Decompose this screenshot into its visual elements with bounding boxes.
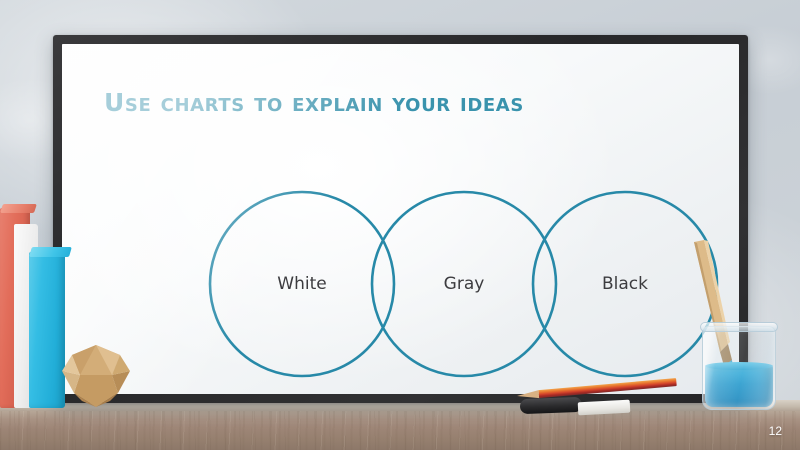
page-number: 12 — [769, 424, 782, 438]
black-eraser — [520, 397, 582, 414]
book-cyan — [29, 252, 65, 408]
venn-label-gray: Gray — [444, 274, 485, 294]
paint-jar — [702, 318, 776, 410]
venn-label-white: White — [277, 274, 326, 294]
jar-lip — [700, 322, 778, 332]
venn-label-black: Black — [602, 274, 648, 294]
whiteboard-surface: Use charts to explain your ideas White G… — [62, 44, 739, 394]
wood-polyhedron — [62, 345, 130, 407]
jar-glass — [702, 326, 776, 410]
white-eraser — [578, 400, 631, 416]
desk-wood-grain — [0, 411, 800, 450]
whiteboard-frame: Use charts to explain your ideas White G… — [53, 35, 748, 403]
book-cyan-top-edge — [29, 247, 72, 257]
book-red-top-edge — [0, 204, 37, 213]
venn-diagram — [62, 44, 739, 394]
